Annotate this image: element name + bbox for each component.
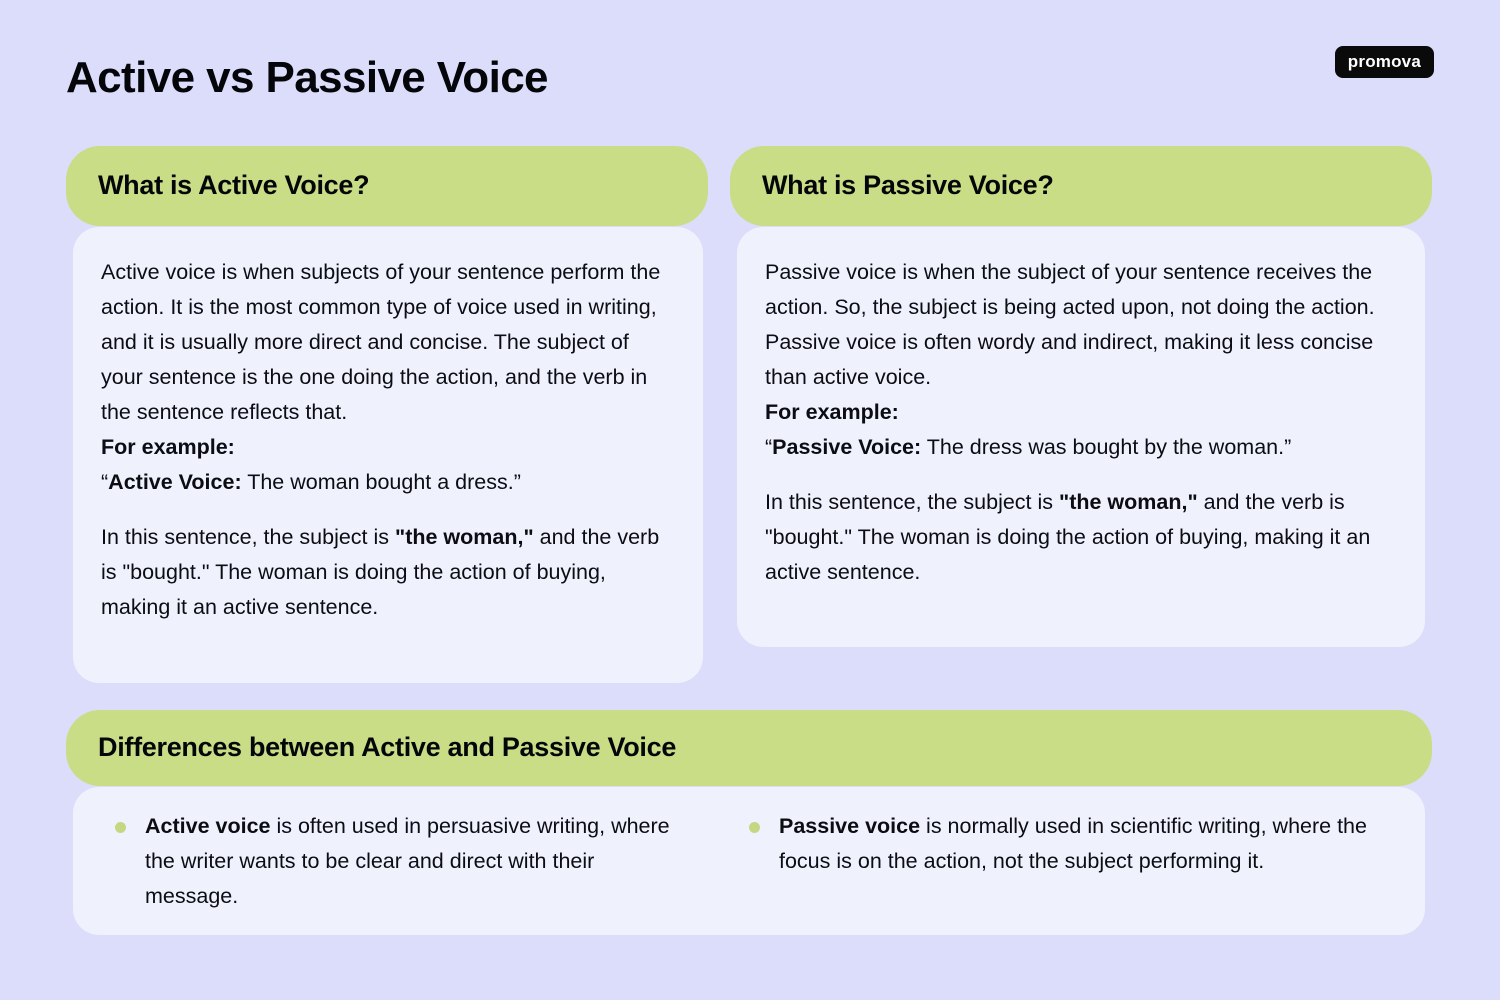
passive-explanation: In this sentence, the subject is "the wo…: [765, 485, 1391, 590]
active-example-label: Active Voice:: [108, 470, 241, 494]
bullet-dot-icon: [115, 822, 126, 833]
card-differences: Active voice is often used in persuasive…: [73, 787, 1425, 935]
differences-column-passive: Passive voice is normally used in scient…: [745, 809, 1395, 935]
active-for-example-text: For example:: [101, 435, 235, 459]
passive-for-example-label: For example:: [765, 395, 1391, 430]
passive-example-sentence: “Passive Voice: The dress was bought by …: [765, 430, 1391, 465]
card-active-voice: Active voice is when subjects of your se…: [73, 227, 703, 683]
active-explanation: In this sentence, the subject is "the wo…: [101, 520, 669, 625]
active-explanation-part-1: In this sentence, the subject is: [101, 525, 395, 549]
bullet-0-label: Active voice: [145, 814, 270, 838]
bullet-1-label: Passive voice: [779, 814, 920, 838]
section-header-active-voice: What is Active Voice?: [66, 146, 708, 226]
page-title: Active vs Passive Voice: [66, 54, 548, 102]
card-passive-voice: Passive voice is when the subject of you…: [737, 227, 1425, 647]
section-title-passive-voice: What is Passive Voice?: [762, 170, 1054, 201]
section-header-passive-voice: What is Passive Voice?: [730, 146, 1432, 226]
differences-column-active: Active voice is often used in persuasive…: [95, 809, 745, 935]
active-explanation-subject: "the woman,": [395, 525, 534, 549]
passive-for-example-text: For example:: [765, 400, 899, 424]
active-example-body: The woman bought a dress.”: [242, 470, 521, 494]
infographic-page: Active vs Passive Voice promova What is …: [0, 0, 1500, 1000]
list-item: Active voice is often used in persuasive…: [111, 809, 685, 914]
passive-example-label: Passive Voice:: [772, 435, 921, 459]
passive-example-body: The dress was bought by the woman.”: [921, 435, 1291, 459]
list-item: Passive voice is normally used in scient…: [745, 809, 1395, 879]
promova-logo: promova: [1335, 46, 1434, 78]
section-title-differences: Differences between Active and Passive V…: [98, 732, 676, 763]
passive-explanation-part-1: In this sentence, the subject is: [765, 490, 1059, 514]
bullet-dot-icon: [749, 822, 760, 833]
section-header-differences: Differences between Active and Passive V…: [66, 710, 1432, 786]
passive-paragraph-1: Passive voice is when the subject of you…: [765, 255, 1391, 395]
section-title-active-voice: What is Active Voice?: [98, 170, 369, 201]
active-for-example-label: For example:: [101, 430, 669, 465]
passive-explanation-subject: "the woman,": [1059, 490, 1198, 514]
active-paragraph-1: Active voice is when subjects of your se…: [101, 255, 669, 430]
active-example-sentence: “Active Voice: The woman bought a dress.…: [101, 465, 669, 500]
